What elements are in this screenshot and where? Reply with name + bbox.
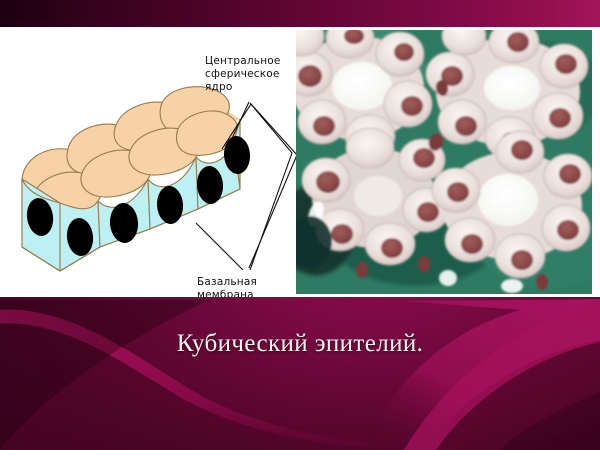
content-panel: Центральное сферическое ядро Базальная м… — [0, 27, 600, 297]
slide-caption: Кубический эпителий. — [0, 330, 600, 358]
label-central-nucleus: Центральное сферическое ядро — [205, 55, 281, 94]
micrograph-image — [296, 30, 592, 294]
top-accent-band — [0, 0, 600, 27]
slide-canvas: Центральное сферическое ядро Базальная м… — [0, 0, 600, 450]
label-basement-membrane: Базальная мембрана — [197, 276, 257, 297]
